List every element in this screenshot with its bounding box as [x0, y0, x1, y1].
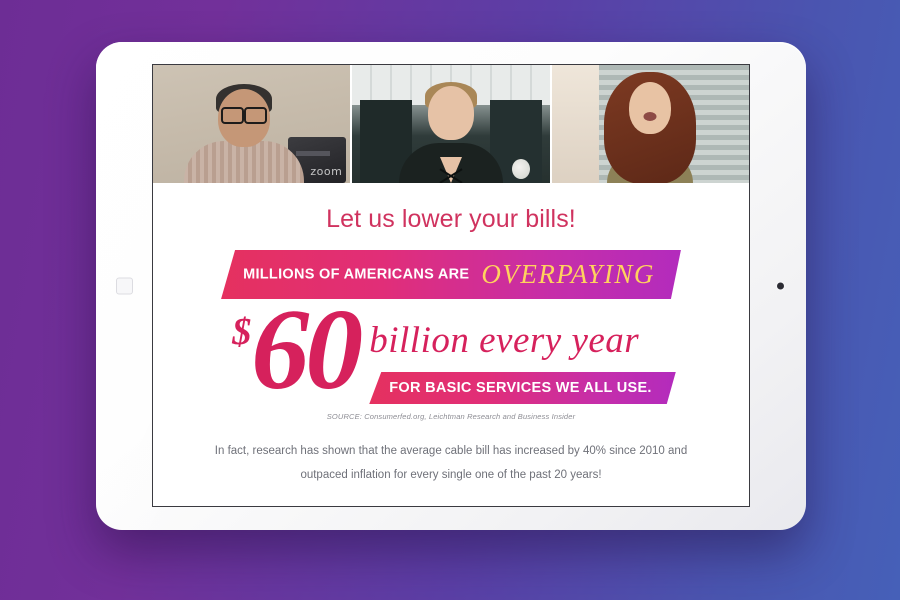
amount-figure: $ 60 — [232, 303, 359, 398]
video-call-strip: zoom — [153, 65, 749, 183]
ribbon-prefix-text: MILLIONS OF AMERICANS ARE — [243, 267, 469, 283]
participant-3-mouth — [644, 112, 657, 121]
front-camera-icon — [777, 283, 784, 290]
basic-services-ribbon: FOR BASIC SERVICES WE ALL USE. — [369, 372, 676, 404]
slide-body-text: In fact, research has shown that the ave… — [211, 439, 691, 487]
amount-unit-text: billion every year — [369, 319, 676, 362]
video-tile-participant-1[interactable]: zoom — [153, 65, 350, 183]
zoom-watermark: zoom — [310, 165, 342, 178]
video-tile-participant-2[interactable] — [352, 65, 549, 183]
tablet-device: zoom — [96, 42, 806, 530]
participant-3-face — [629, 82, 671, 134]
currency-symbol: $ — [232, 317, 251, 348]
flower-object — [512, 159, 530, 179]
eyeglasses-icon — [221, 107, 267, 120]
home-button[interactable] — [116, 278, 133, 295]
video-tile-participant-3[interactable] — [552, 65, 749, 183]
slide-headline: Let us lower your bills! — [171, 205, 731, 234]
amount-detail-column: billion every year FOR BASIC SERVICES WE… — [369, 319, 676, 404]
presentation-slide: Let us lower your bills! MILLIONS OF AME… — [153, 205, 749, 507]
amount-row: $ 60 billion every year FOR BASIC SERVIC… — [171, 303, 731, 404]
participant-1-torso — [184, 141, 304, 183]
ribbon-emphasis-text: OVERPAYING — [481, 259, 655, 289]
wall-panel — [552, 65, 599, 183]
participant-2-face — [428, 86, 474, 140]
tablet-screen: zoom — [152, 64, 750, 507]
amount-value: 60 — [251, 303, 359, 398]
overpaying-ribbon: MILLIONS OF AMERICANS AREOVERPAYING — [221, 250, 681, 299]
